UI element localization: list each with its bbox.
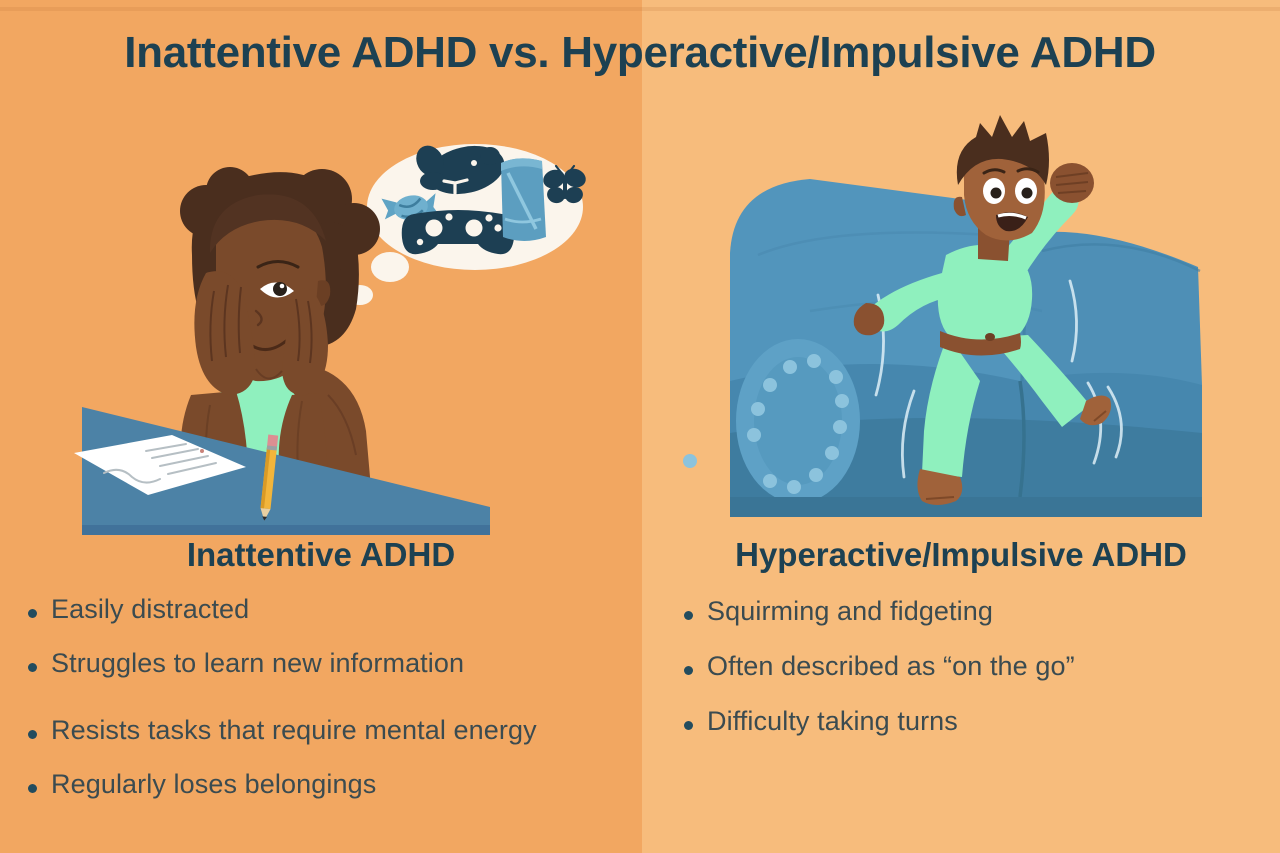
list-item-label: Often described as “on the go” <box>693 653 1075 680</box>
section-heading-hyperactive: Hyperactive/Impulsive ADHD <box>642 536 1280 574</box>
list-item: Struggles to learn new information <box>28 650 537 677</box>
boy-right-fist <box>1050 163 1094 203</box>
list-item-label: Easily distracted <box>37 596 249 623</box>
boy-shirt <box>938 245 1032 346</box>
thought-item-drink-cup-icon <box>501 158 546 241</box>
boy-navel <box>985 333 995 341</box>
list-item-label: Difficulty taking turns <box>693 708 958 735</box>
list-item-label: Resists tasks that require mental energy <box>37 717 537 744</box>
bullet-dot-icon <box>28 663 37 672</box>
list-item-label: Squirming and fidgeting <box>693 598 993 625</box>
couch-base <box>730 497 1202 517</box>
list-item-label: Struggles to learn new information <box>37 650 464 677</box>
couch-armrest <box>683 339 860 503</box>
top-edge-line <box>0 7 1280 11</box>
desk-edge <box>82 525 490 535</box>
symptom-list-inattentive: Easily distracted Struggles to learn new… <box>28 596 537 825</box>
bullet-dot-icon <box>684 666 693 675</box>
list-item: Resists tasks that require mental energy <box>28 717 537 744</box>
illustration-boy-jumping-on-couch <box>690 85 1230 540</box>
list-item: Easily distracted <box>28 596 537 623</box>
bullet-dot-icon <box>28 784 37 793</box>
bullet-dot-icon <box>28 730 37 739</box>
symptom-list-hyperactive: Squirming and fidgeting Often described … <box>684 598 1075 763</box>
illustration-girl-daydreaming-at-desk <box>60 95 580 540</box>
list-item: Difficulty taking turns <box>684 708 1075 735</box>
page-title: Inattentive ADHD vs. Hyperactive/Impulsi… <box>0 28 1280 78</box>
list-item-label: Regularly loses belongings <box>37 771 376 798</box>
list-item: Squirming and fidgeting <box>684 598 1075 625</box>
bullet-dot-icon <box>28 609 37 618</box>
bullet-dot-icon <box>684 611 693 620</box>
section-heading-inattentive: Inattentive ADHD <box>0 536 642 574</box>
infographic-canvas: Inattentive ADHD vs. Hyperactive/Impulsi… <box>0 0 1280 853</box>
bullet-dot-icon <box>684 721 693 730</box>
list-item: Regularly loses belongings <box>28 771 537 798</box>
thought-bubble-dot-medium <box>371 252 409 282</box>
list-item: Often described as “on the go” <box>684 653 1075 680</box>
